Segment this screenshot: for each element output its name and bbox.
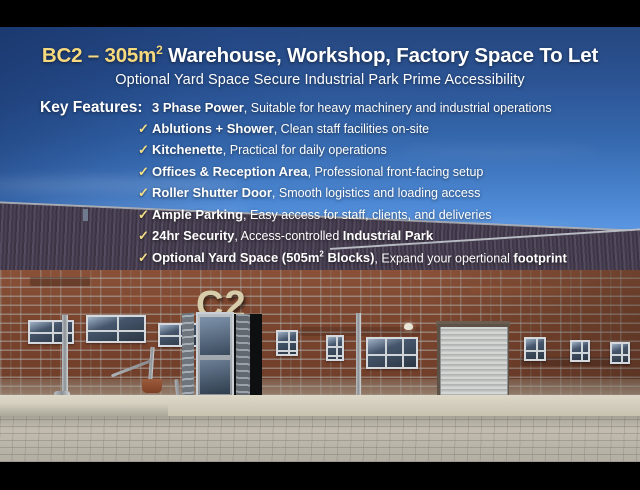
title-rest: Warehouse, Workshop, Factory Space To Le…: [163, 44, 598, 67]
page-subtitle: Optional Yard Space Secure Industrial Pa…: [0, 72, 640, 88]
feature-row: ✓Offices & Reception Area, Professional …: [0, 164, 640, 186]
key-features-list: Key Features:3 Phase Power, Suitable for…: [0, 99, 640, 271]
feature-row: ✓Ample Parking, Easy access for staff, c…: [0, 207, 640, 229]
feature-text: Ample Parking, Easy access for staff, cl…: [152, 207, 492, 222]
feature-text: Ablutions + Shower, Clean staff faciliti…: [152, 121, 429, 136]
check-icon: ✓: [138, 165, 152, 178]
feature-row: ✓Ablutions + Shower, Clean staff facilit…: [0, 121, 640, 143]
letterbox-bar-top: [0, 0, 640, 27]
check-icon: ✓: [138, 251, 152, 264]
page-title: BC2 – 305m2 Warehouse, Workshop, Factory…: [0, 43, 640, 68]
feature-row: Key Features:3 Phase Power, Suitable for…: [0, 99, 640, 121]
feature-text: 24hr Security, Access-controlled Industr…: [152, 228, 433, 243]
key-features-label: Key Features:: [40, 99, 152, 117]
check-icon: ✓: [138, 229, 152, 242]
feature-row: ✓Roller Shutter Door, Smooth logistics a…: [0, 185, 640, 207]
feature-row: ✓Kitchenette, Practical for daily operat…: [0, 142, 640, 164]
slide-canvas: C2: [0, 0, 640, 490]
check-icon: ✓: [138, 208, 152, 221]
feature-text: Optional Yard Space (505m2 Blocks), Expa…: [152, 250, 567, 265]
check-icon: ✓: [138, 186, 152, 199]
title-highlight: BC2 – 305m2: [42, 44, 163, 67]
feature-text: Kitchenette, Practical for daily operati…: [152, 142, 387, 157]
feature-text: Roller Shutter Door, Smooth logistics an…: [152, 185, 480, 200]
check-icon: ✓: [138, 122, 152, 135]
feature-text: Offices & Reception Area, Professional f…: [152, 164, 483, 179]
feature-row: ✓Optional Yard Space (505m2 Blocks), Exp…: [0, 250, 640, 272]
feature-text: 3 Phase Power, Suitable for heavy machin…: [152, 100, 552, 115]
check-icon: ✓: [138, 143, 152, 156]
letterbox-bar-bottom: [0, 462, 640, 490]
feature-row: ✓24hr Security, Access-controlled Indust…: [0, 228, 640, 250]
text-overlay: BC2 – 305m2 Warehouse, Workshop, Factory…: [0, 0, 640, 490]
